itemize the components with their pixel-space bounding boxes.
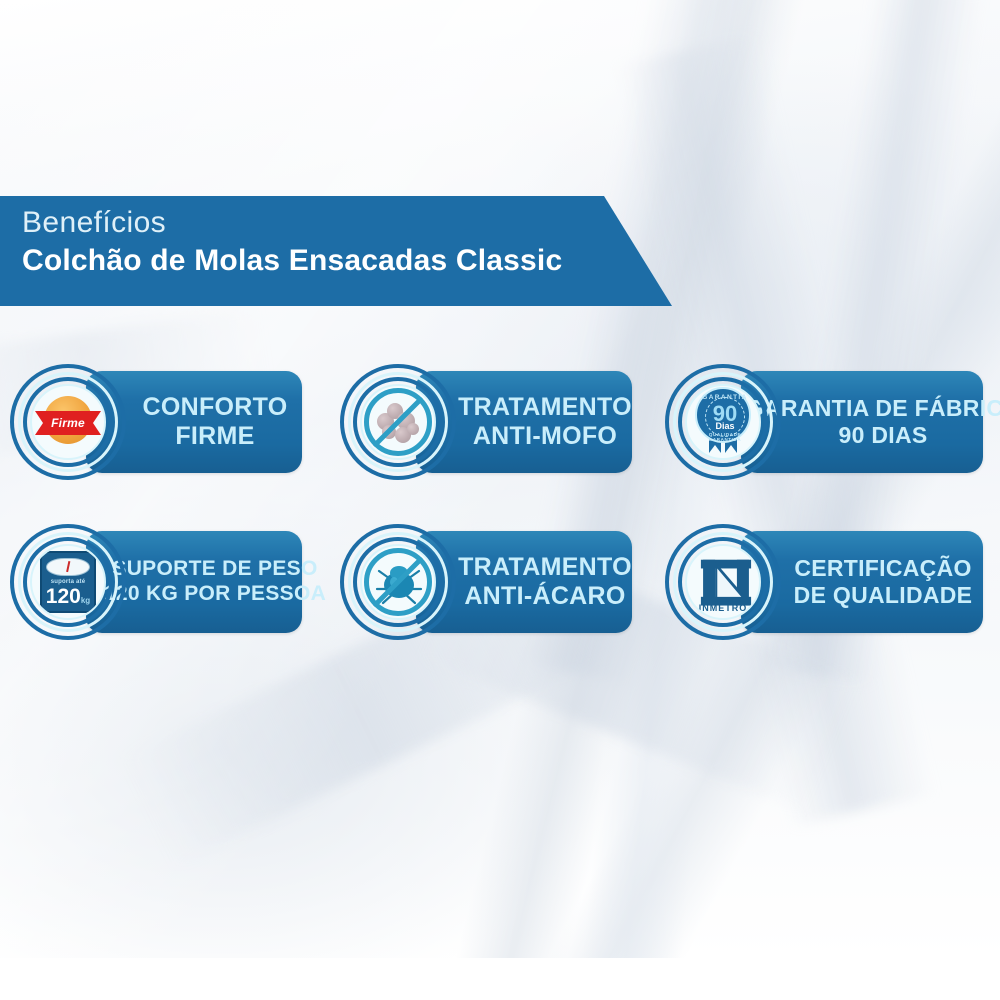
inmetro-logo-icon: INMETRO xyxy=(687,546,759,618)
badge-icon-rings xyxy=(340,524,456,640)
benefits-grid: Firme CONFORTO FIRME xyxy=(10,362,992,682)
badge-line-1: SUPORTE DE PESO xyxy=(112,557,317,582)
badge-anti-acaro[interactable]: TRATAMENTO ANTI-ÁCARO xyxy=(340,522,632,642)
scale-number-value: 120 xyxy=(46,585,81,608)
badge-line-2: ANTI-MOFO xyxy=(473,422,617,452)
badge-line-2: 90 DIAS xyxy=(838,422,927,449)
badge-icon-rings: INMETRO xyxy=(665,524,781,640)
banner-title: Colchão de Molas Ensacadas Classic xyxy=(22,244,562,278)
benefits-row: suporta até 120kg SUPORTE DE PESO 120 KG… xyxy=(10,522,992,682)
badge-line-2: 120 KG POR PESSOA xyxy=(104,582,326,607)
badge-anti-mofo[interactable]: TRATAMENTO ANTI-MOFO xyxy=(340,362,632,482)
badge-line-1: CERTIFICAÇÃO xyxy=(794,555,971,582)
badge-garantia-fabrica[interactable]: GARANTIA 90 Dias QUALIDADE GARANTIDA GAR… xyxy=(665,362,983,482)
badge-line-1: TRATAMENTO xyxy=(458,393,632,423)
badge-icon-rings xyxy=(340,364,456,480)
weight-scale-icon: suporta até 120kg xyxy=(32,546,104,618)
badge-line-1: CONFORTO xyxy=(143,393,288,423)
seal-disc: GARANTIA 90 Dias QUALIDADE GARANTIDA xyxy=(695,387,751,443)
badge-icon-rings: suporta até 120kg xyxy=(10,524,126,640)
scale-unit: kg xyxy=(81,596,90,605)
badge-icon-rings: GARANTIA 90 Dias QUALIDADE GARANTIDA xyxy=(665,364,781,480)
benefits-row: Firme CONFORTO FIRME xyxy=(10,362,992,522)
no-dustmite-icon xyxy=(362,546,434,618)
badge-line-2: FIRME xyxy=(175,422,254,452)
no-mold-icon xyxy=(362,386,434,458)
badge-line-2: DE QUALIDADE xyxy=(794,582,973,609)
badge-conforto-firme[interactable]: Firme CONFORTO FIRME xyxy=(10,362,302,482)
inmetro-wordmark: INMETRO xyxy=(690,603,756,613)
scale-number: 120kg xyxy=(46,586,90,607)
firme-red-ribbon: Firme xyxy=(35,411,101,435)
badge-icon-rings: Firme xyxy=(10,364,126,480)
seal-unit: Dias xyxy=(697,422,753,431)
firme-ribbon-label: Firme xyxy=(51,416,85,430)
banner-kicker: Benefícios xyxy=(22,206,166,240)
header-banner: Benefícios Colchão de Molas Ensacadas Cl… xyxy=(0,196,672,306)
scale-dial xyxy=(46,558,90,576)
badge-line-2: ANTI-ÁCARO xyxy=(464,582,625,612)
guarantee-seal-icon: GARANTIA 90 Dias QUALIDADE GARANTIDA xyxy=(687,386,759,458)
seal-arc-top-label: GARANTIA xyxy=(697,394,753,401)
badge-line-1: TRATAMENTO xyxy=(458,553,632,583)
bottom-white-margin xyxy=(0,958,1000,1000)
seal-arc-bottom-label: QUALIDADE GARANTIDA xyxy=(697,432,753,442)
infographic-canvas: Benefícios Colchão de Molas Ensacadas Cl… xyxy=(0,0,1000,1000)
badge-suporte-peso[interactable]: suporta até 120kg SUPORTE DE PESO 120 KG… xyxy=(10,522,302,642)
badge-certificacao-qualidade[interactable]: INMETRO CERTIFICAÇÃO DE QUALIDADE xyxy=(665,522,983,642)
badge-line-1: GARANTIA DE FÁBRICA xyxy=(746,395,1000,422)
firme-ribbon-icon: Firme xyxy=(32,386,104,458)
